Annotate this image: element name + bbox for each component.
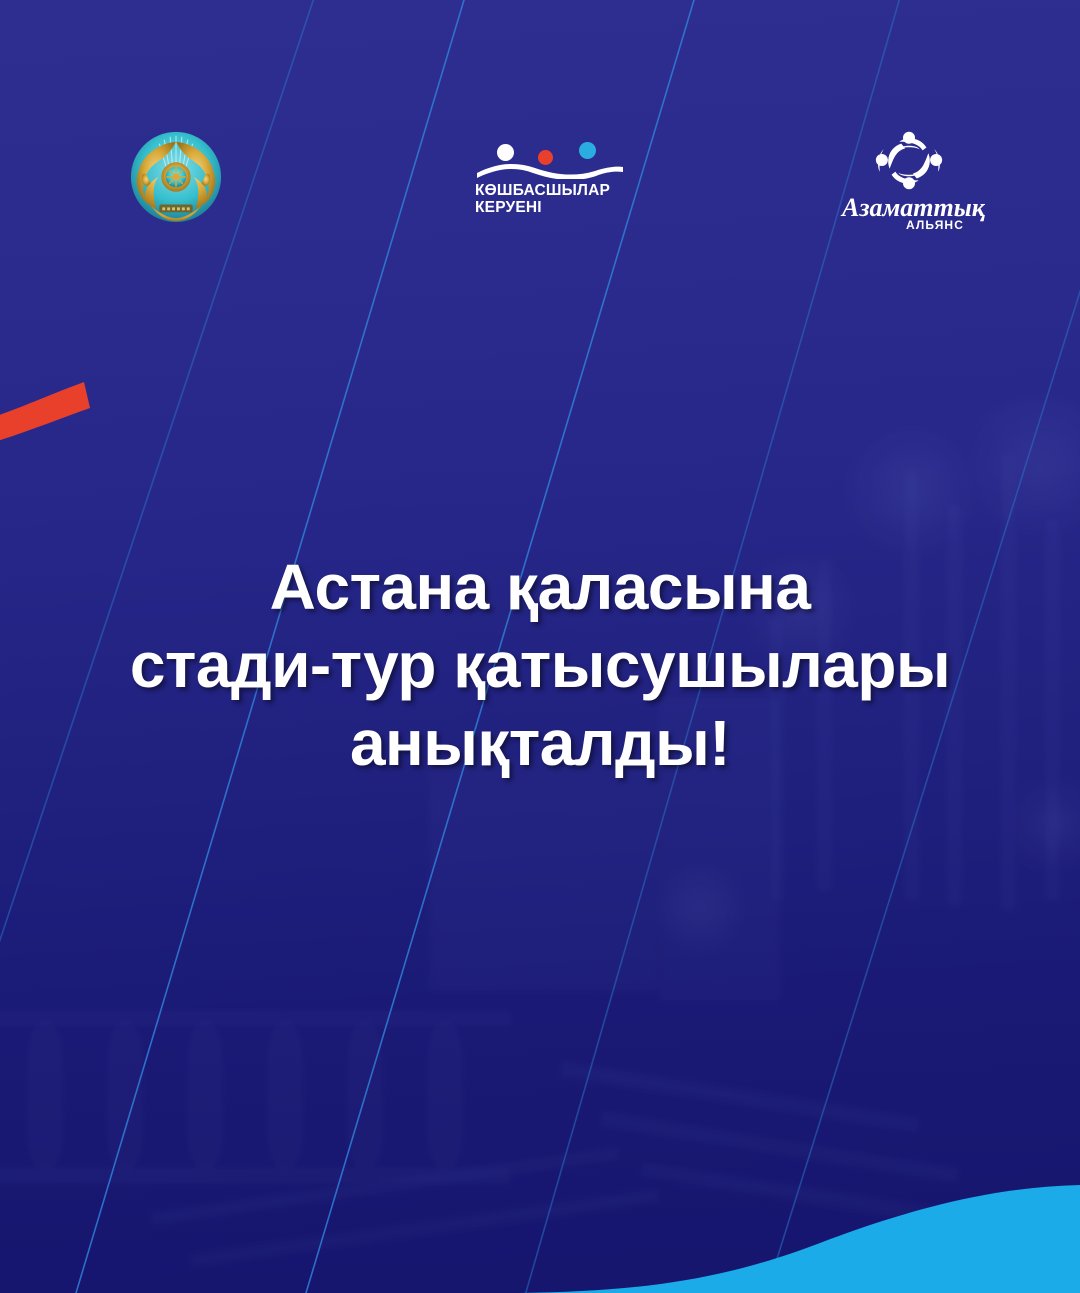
headline: Астана қаласына стади-тур қатысушылары а…: [0, 548, 1080, 782]
poster-canvas: КӨШБАСШЫЛАР КЕРУЕНІ: [0, 0, 1080, 1293]
karuan-line1: КӨШБАСШЫЛАР: [475, 182, 625, 199]
dot-blue-icon: [579, 142, 596, 159]
four-people-circle-icon: [872, 130, 946, 192]
koshbasshylar-keruenі-logo: КӨШБАСШЫЛАР КЕРУЕНІ: [475, 142, 625, 228]
headline-line-3: анықталды!: [40, 704, 1040, 782]
red-curved-stripe: [0, 360, 150, 440]
alyans-sub-text: АЛЬЯНС: [906, 218, 964, 232]
kazakhstan-state-emblem-icon: [127, 128, 225, 226]
karuan-line2: КЕРУЕНІ: [475, 199, 625, 216]
karuan-text-block: КӨШБАСШЫЛАР КЕРУЕНІ: [475, 182, 625, 216]
dot-white-icon: [497, 144, 514, 161]
azamattyq-alyans-logo: Азаматтық АЛЬЯНС: [840, 130, 985, 234]
karuan-wave-icon: [475, 163, 625, 179]
headline-line-1: Астана қаласына: [40, 548, 1040, 626]
cyan-bottom-wave: [520, 1163, 1080, 1293]
azamattyq-wordmark: Азаматтық АЛЬЯНС: [840, 186, 985, 232]
karuan-dots: [475, 142, 625, 164]
logo-row: КӨШБАСШЫЛАР КЕРУЕНІ: [0, 128, 1080, 246]
dot-red-icon: [538, 150, 553, 165]
headline-line-2: стади-тур қатысушылары: [40, 626, 1040, 704]
